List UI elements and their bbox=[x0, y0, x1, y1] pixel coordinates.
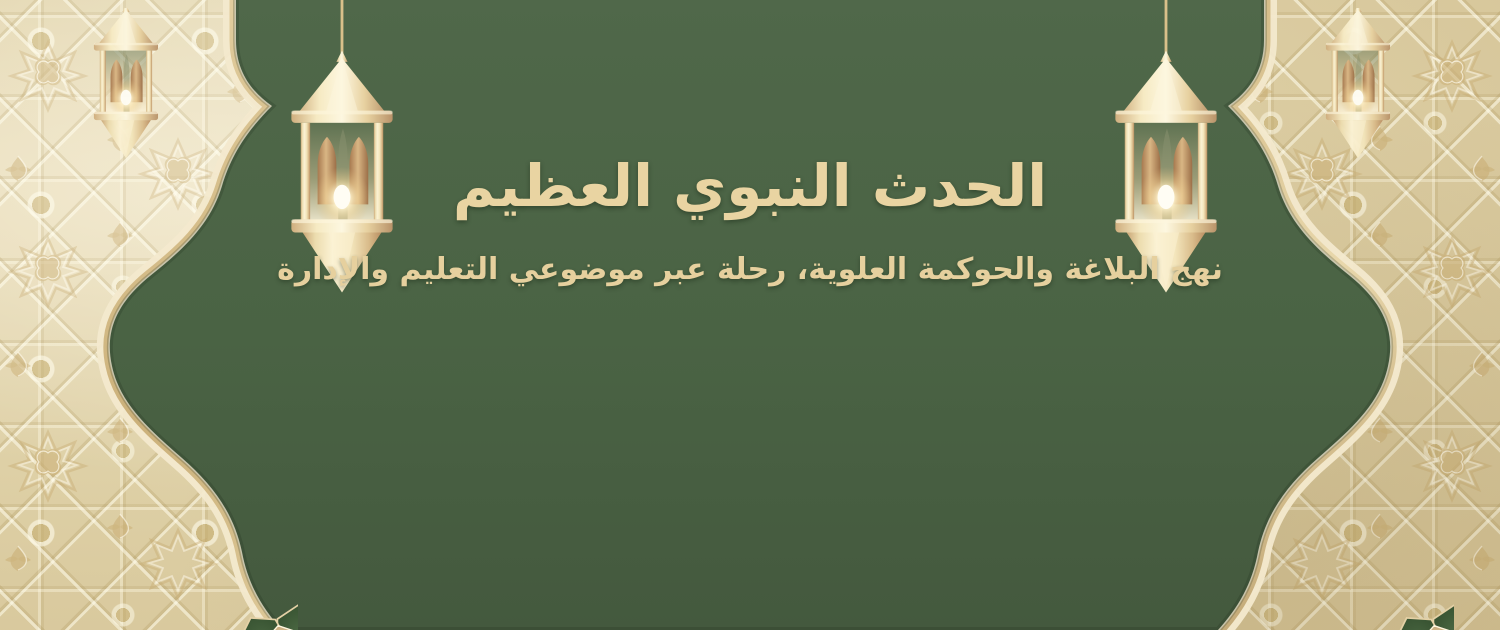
ramadan-banner: الحدث النبوي العظيم نهج البلاغة والحوكمة… bbox=[0, 0, 1500, 630]
banner-text-block: الحدث النبوي العظيم نهج البلاغة والحوكمة… bbox=[0, 150, 1500, 291]
banner-subtitle: نهج البلاغة والحوكمة العلوية، رحلة عبر م… bbox=[0, 249, 1500, 291]
banner-title: الحدث النبوي العظيم bbox=[0, 150, 1500, 223]
rosette-bottom-left bbox=[92, 494, 298, 630]
rosette-bottom-right bbox=[1248, 494, 1454, 630]
